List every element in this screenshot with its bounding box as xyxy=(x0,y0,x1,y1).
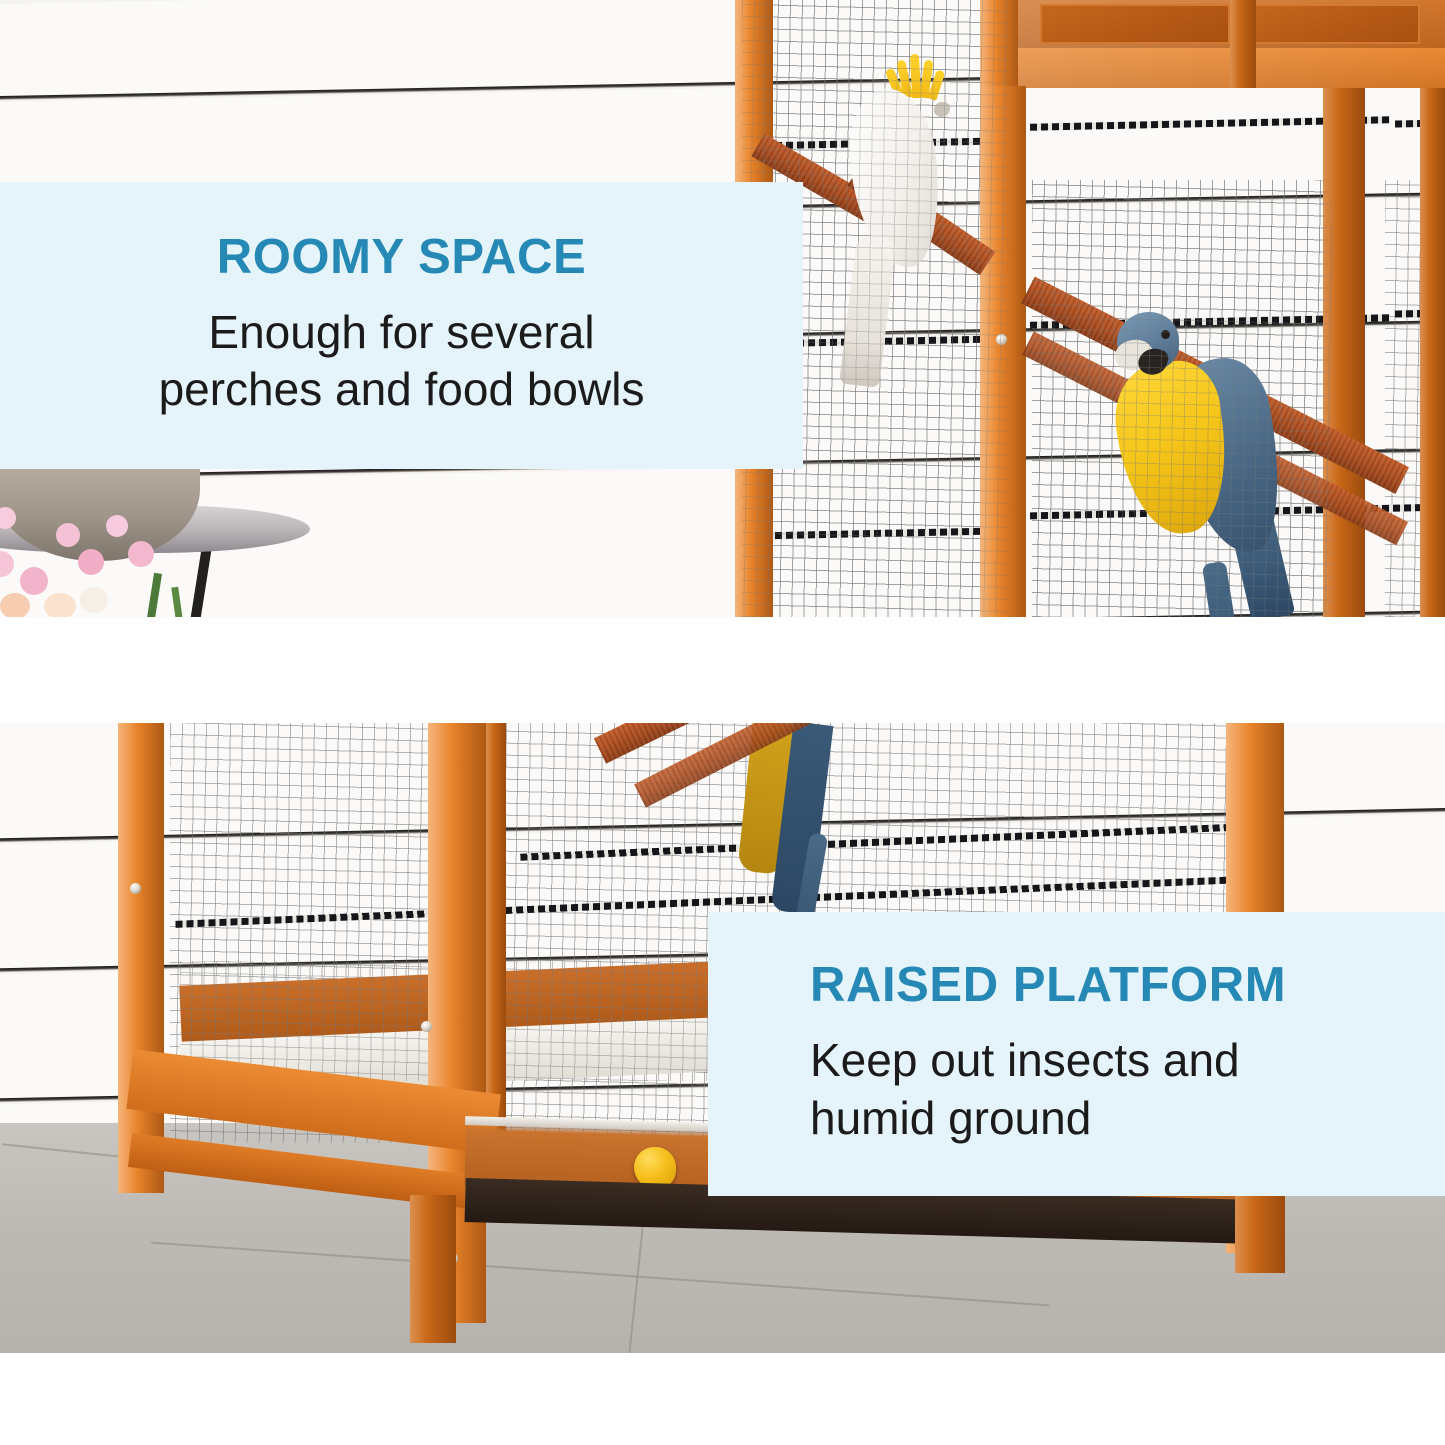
product-feature-graphic: ROOMY SPACE Enough for several perches a… xyxy=(0,0,1445,1445)
caption-raised-subtitle: Keep out insects and humid ground xyxy=(810,1032,1240,1146)
leg-rear-left xyxy=(410,1195,456,1343)
caption-roomy-space: ROOMY SPACE Enough for several perches a… xyxy=(0,182,803,469)
panel-raised-platform: RAISED PLATFORM Keep out insects and hum… xyxy=(0,723,1445,1353)
caption-roomy-subtitle: Enough for several perches and food bowl… xyxy=(159,304,645,418)
leg-front-left xyxy=(118,723,164,1193)
screw-hole-icon xyxy=(130,883,141,894)
caption-roomy-title: ROOMY SPACE xyxy=(217,233,587,282)
frame-post-far-right xyxy=(1420,88,1445,617)
caption-raised-subtitle-line-1: Keep out insects and xyxy=(810,1032,1240,1089)
caption-roomy-subtitle-line-2: perches and food bowls xyxy=(159,361,645,418)
caption-raised-title: RAISED PLATFORM xyxy=(810,961,1286,1010)
caption-roomy-subtitle-line-1: Enough for several xyxy=(159,304,645,361)
pink-flowers xyxy=(0,505,290,617)
caption-raised-platform: RAISED PLATFORM Keep out insects and hum… xyxy=(708,912,1445,1196)
leg-rear-right xyxy=(1235,1193,1285,1273)
screw-hole-icon xyxy=(421,1021,432,1032)
caption-raised-subtitle-line-2: humid ground xyxy=(810,1090,1240,1147)
wire-mesh-overlay-mid xyxy=(1032,180,1332,617)
panel-roomy-space: ROOMY SPACE Enough for several perches a… xyxy=(0,0,1445,617)
